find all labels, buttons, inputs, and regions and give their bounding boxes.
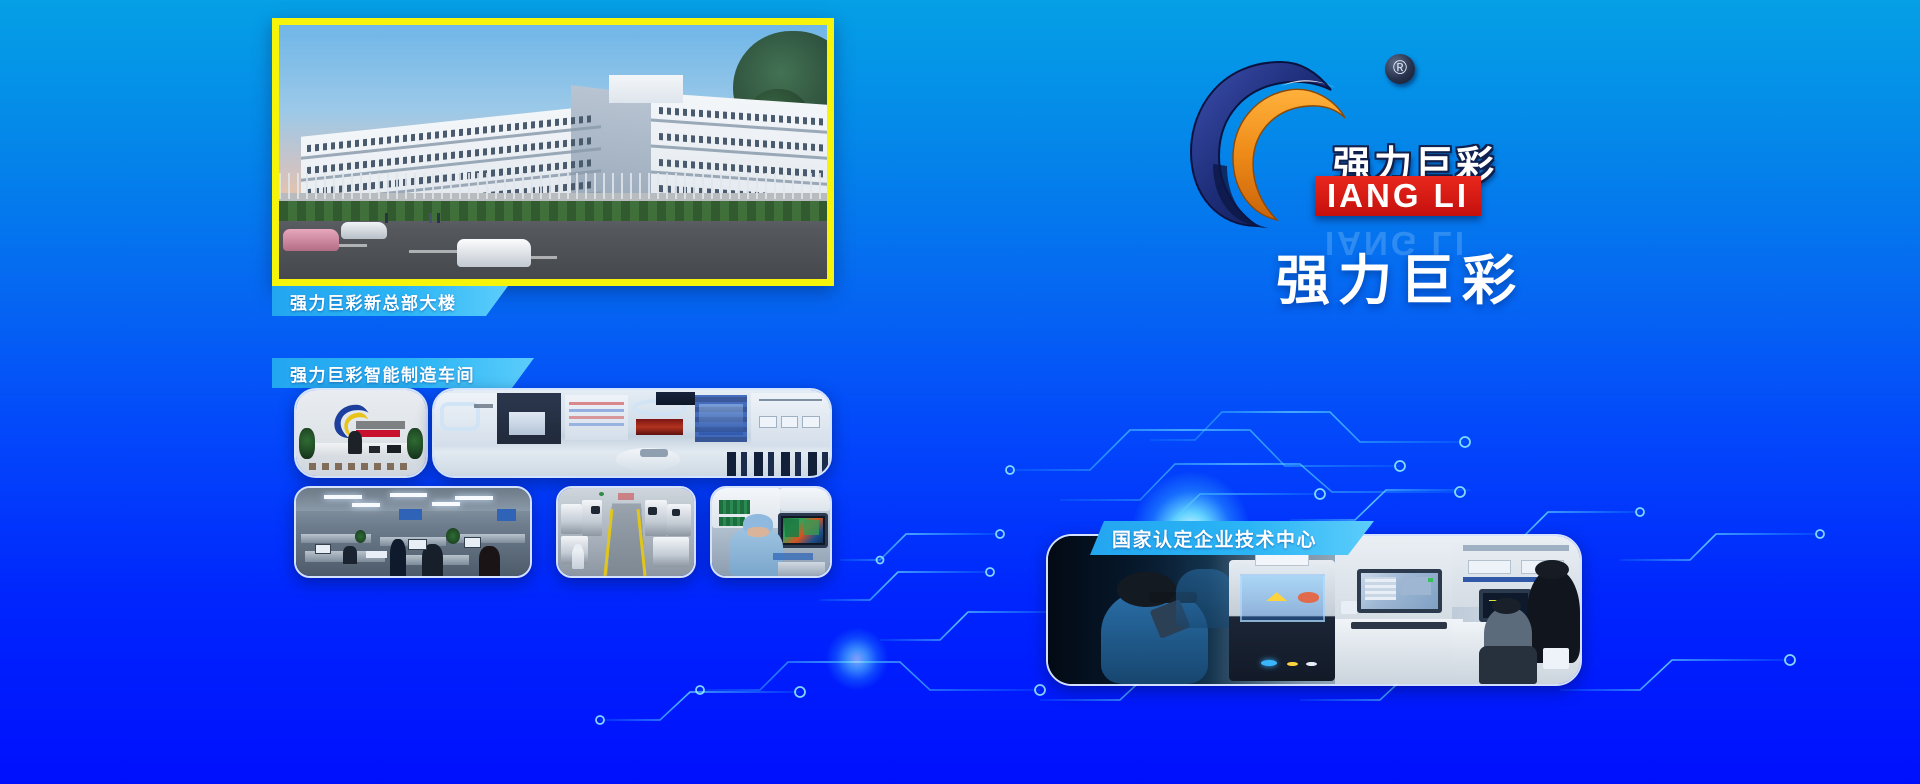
glow-node	[826, 628, 888, 690]
brand-logo-block: ® 强力巨彩 IANG LI IANG LI 强力巨彩	[1185, 48, 1615, 268]
ribbon-label: 强力巨彩新总部大楼	[290, 289, 457, 314]
ribbon-headquarters-building: 强力巨彩新总部大楼	[272, 286, 508, 316]
photo-inspection	[710, 486, 832, 578]
ribbon-label: 国家认定企业技术中心	[1112, 525, 1317, 552]
ribbon-label: 强力巨彩智能制造车间	[290, 361, 475, 386]
ribbon-smart-manufacturing-workshop: 强力巨彩智能制造车间	[272, 358, 534, 388]
ribbon-national-technology-center: 国家认定企业技术中心	[1090, 521, 1374, 555]
company-title: 强力巨彩	[1185, 236, 1615, 315]
photo-lobby	[294, 388, 428, 478]
headquarters-building-card	[272, 18, 834, 286]
photo-national-technology-center: Sonoscan	[1046, 534, 1582, 686]
registered-trademark-icon: ®	[1385, 54, 1415, 84]
photo-showroom	[432, 388, 832, 478]
photo-office	[294, 486, 532, 578]
headquarters-building-image	[279, 25, 827, 279]
photo-smt-line	[556, 486, 696, 578]
logo-english-text: IANG LI	[1315, 176, 1481, 216]
